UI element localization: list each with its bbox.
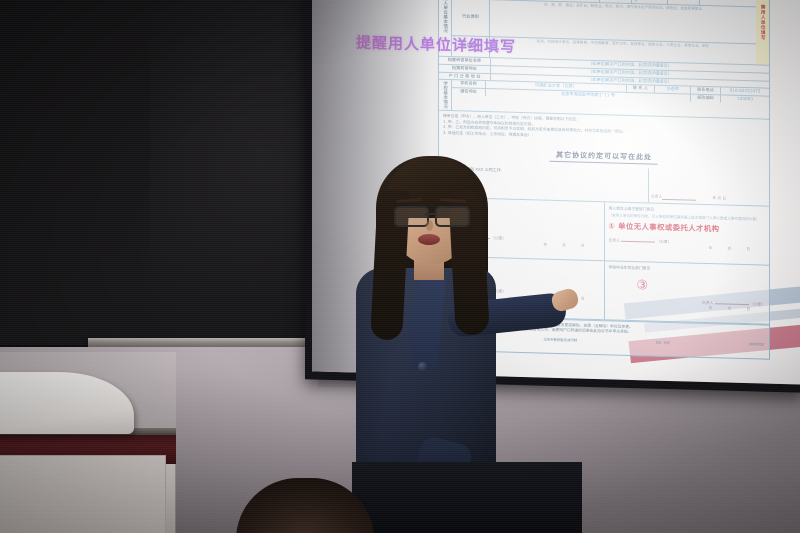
- chalk-tray: [88, 338, 318, 347]
- presenter-nose: [426, 220, 433, 231]
- glasses-lens-right: [435, 206, 470, 227]
- lectern-front-panel: [0, 455, 166, 533]
- glasses-lens-left: [394, 206, 429, 227]
- foreground-dark-object: [352, 462, 582, 533]
- coat-button: [418, 362, 427, 371]
- glasses-bridge: [425, 213, 435, 215]
- classroom-scene: 用人单位基本情况 单位地址 通讯邮政编码 联 系 人 联系电话: [0, 0, 800, 533]
- presenter-mouth: [418, 234, 440, 245]
